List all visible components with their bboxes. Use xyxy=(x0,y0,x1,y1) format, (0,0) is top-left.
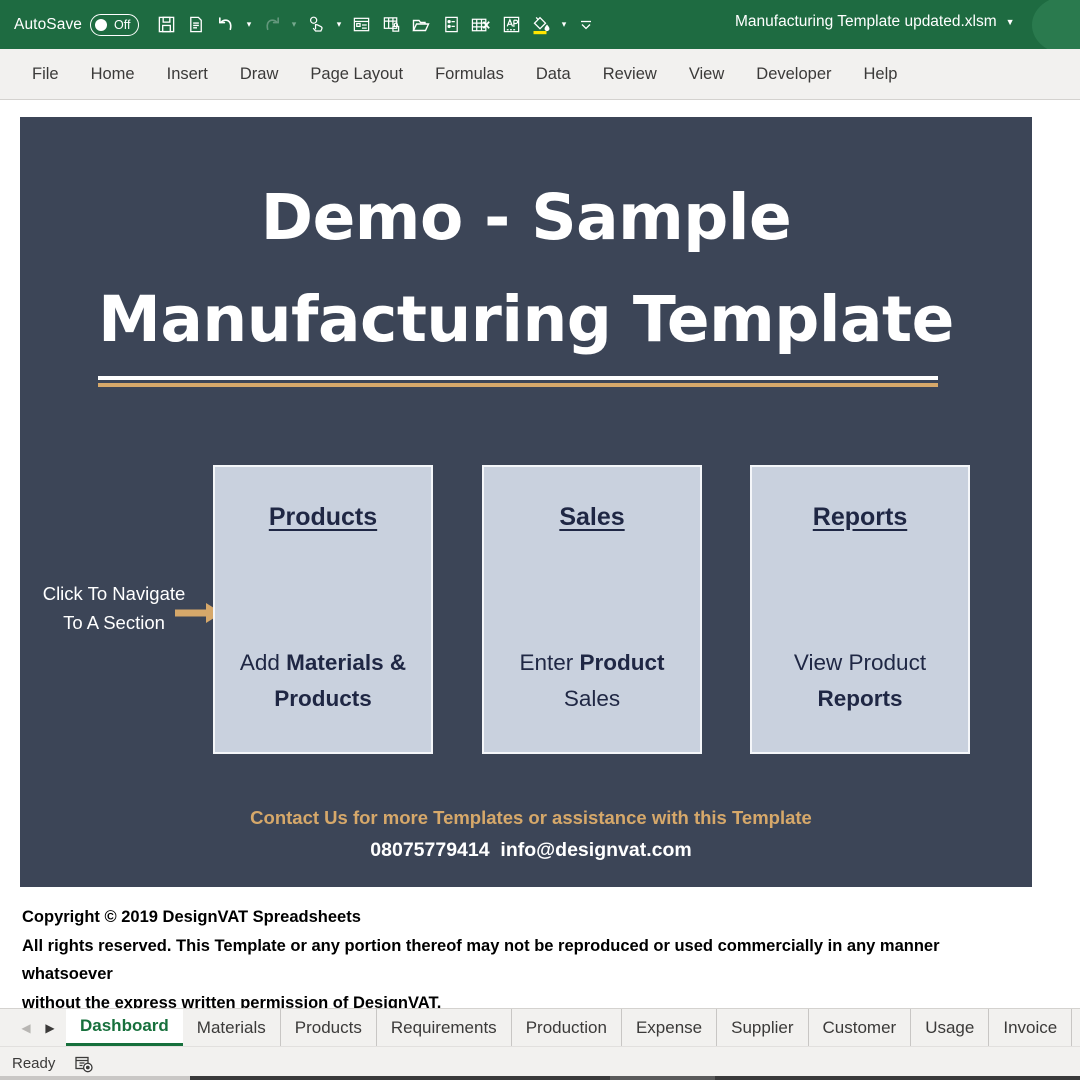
fill-color-icon[interactable] xyxy=(526,8,556,42)
sheet-tab-dashboard[interactable]: Dashboard xyxy=(66,1009,183,1046)
properties-icon[interactable] xyxy=(436,8,466,42)
save-icon[interactable] xyxy=(151,8,181,42)
fill-color-chevron-down-icon[interactable]: ▾ xyxy=(556,8,571,42)
tab-insert[interactable]: Insert xyxy=(151,59,224,90)
ribbon-tab-bar: File Home Insert Draw Page Layout Formul… xyxy=(0,49,1080,100)
customize-qat-icon[interactable] xyxy=(571,8,601,42)
nav-card-sales-desc-bold: Product xyxy=(580,650,665,675)
tab-file[interactable]: File xyxy=(16,59,75,90)
page-title: Demo - Sample Manufacturing Template xyxy=(20,167,1032,371)
nav-card-products-title[interactable]: Products xyxy=(215,503,431,532)
copyright-line-2: All rights reserved. This Template or an… xyxy=(22,932,1032,989)
divider-gold xyxy=(98,383,938,387)
tab-review[interactable]: Review xyxy=(587,59,673,90)
tab-help[interactable]: Help xyxy=(848,59,914,90)
divider-white xyxy=(98,376,938,380)
sheet-tab-bar: ◀ ▶ Dashboard Materials Products Require… xyxy=(0,1008,1080,1046)
nav-card-products-desc-prefix: Add xyxy=(240,650,286,675)
contact-tagline: Contact Us for more Templates or assista… xyxy=(20,807,1032,829)
touch-mouse-mode-icon[interactable] xyxy=(301,8,331,42)
print-preview-icon[interactable] xyxy=(181,8,211,42)
sheet-tab-production[interactable]: Production xyxy=(512,1009,622,1046)
document-title: Manufacturing Template updated.xlsm xyxy=(735,13,997,31)
open-folder-icon[interactable] xyxy=(406,8,436,42)
autosave-state-label: Off xyxy=(114,18,130,32)
tab-developer[interactable]: Developer xyxy=(740,59,847,90)
copyright-line-3: without the express written permission o… xyxy=(22,989,1032,1008)
quick-access-toolbar: ▾ ▾ ▾ xyxy=(151,8,601,42)
scrollbar-segment-right[interactable] xyxy=(715,1076,1080,1080)
dashboard-panel: Demo - Sample Manufacturing Template Cli… xyxy=(20,117,1032,887)
title-bar-decoration xyxy=(1032,0,1080,49)
clear-formatting-icon[interactable] xyxy=(466,8,496,42)
sheet-tab-materials[interactable]: Materials xyxy=(183,1009,281,1046)
nav-card-products[interactable]: Products Add Materials & Products xyxy=(213,465,433,754)
scrollbar-segment-mid-2[interactable] xyxy=(610,1076,715,1080)
document-title-chevron-down-icon[interactable]: ▼ xyxy=(1006,17,1015,27)
sheet-tab-next-arrow-icon[interactable]: ▶ xyxy=(38,1010,62,1046)
nav-card-sales-title[interactable]: Sales xyxy=(484,503,700,532)
copyright-line-1: Copyright © 2019 DesignVAT Spreadsheets xyxy=(22,903,1032,932)
status-state-label: Ready xyxy=(12,1055,55,1072)
scrollbar-segment-mid-1[interactable] xyxy=(190,1076,610,1080)
worksheet-area: Demo - Sample Manufacturing Template Cli… xyxy=(0,100,1080,1008)
nav-card-reports-title[interactable]: Reports xyxy=(752,503,968,532)
nav-card-reports-desc-bold: Reports xyxy=(817,686,902,711)
page-title-line-2: Manufacturing Template xyxy=(20,269,1032,371)
tab-view[interactable]: View xyxy=(673,59,740,90)
record-macro-icon[interactable] xyxy=(73,1053,95,1075)
nav-card-reports[interactable]: Reports View Product Reports xyxy=(750,465,970,754)
contact-phone[interactable]: 08075779414 xyxy=(370,839,489,861)
sheet-tab-navigation: ◀ ▶ xyxy=(0,1009,66,1046)
scrollbar-segment-left[interactable] xyxy=(0,1076,190,1080)
status-bar: Ready xyxy=(0,1046,1080,1080)
nav-card-sales-description: Enter Product Sales xyxy=(492,645,692,718)
sheet-tab-usage[interactable]: Usage xyxy=(911,1009,989,1046)
tab-draw[interactable]: Draw xyxy=(224,59,295,90)
undo-dropdown-chevron-down-icon[interactable]: ▾ xyxy=(241,8,256,42)
redo-icon xyxy=(256,8,286,42)
contact-details: 08075779414 info@designvat.com xyxy=(20,839,1032,862)
sheet-tab-supplier[interactable]: Supplier xyxy=(717,1009,808,1046)
sheet-tab-invoice[interactable]: Invoice xyxy=(989,1009,1072,1046)
nav-card-reports-description: View Product Reports xyxy=(760,645,960,718)
title-bar: AutoSave Off ▾ xyxy=(0,0,1080,49)
touch-mode-chevron-down-icon[interactable]: ▾ xyxy=(331,8,346,42)
nav-card-products-desc-bold: Materials & Products xyxy=(274,650,406,711)
autosave-toggle-knob xyxy=(95,19,107,31)
sheet-tab-prev-arrow-icon[interactable]: ◀ xyxy=(14,1010,38,1046)
nav-card-sales[interactable]: Sales Enter Product Sales xyxy=(482,465,702,754)
redo-dropdown-chevron-down-icon: ▾ xyxy=(286,8,301,42)
nav-card-sales-desc-suffix: Sales xyxy=(564,686,620,711)
tab-data[interactable]: Data xyxy=(520,59,587,90)
nav-card-reports-desc-prefix: View Product xyxy=(794,650,926,675)
sheet-tab-requirements[interactable]: Requirements xyxy=(377,1009,512,1046)
autosave-group: AutoSave Off xyxy=(14,14,139,36)
sheet-tab-products[interactable]: Products xyxy=(281,1009,377,1046)
sheet-tab-list: Dashboard Materials Products Requirement… xyxy=(66,1009,1072,1046)
page-title-line-1: Demo - Sample xyxy=(20,167,1032,269)
form-icon[interactable] xyxy=(346,8,376,42)
sheet-tab-customer[interactable]: Customer xyxy=(809,1009,912,1046)
nav-card-products-description: Add Materials & Products xyxy=(223,645,423,718)
autosave-toggle[interactable]: Off xyxy=(90,14,139,36)
contact-email[interactable]: info@designvat.com xyxy=(500,839,691,861)
tab-formulas[interactable]: Formulas xyxy=(419,59,520,90)
spelling-icon[interactable] xyxy=(496,8,526,42)
autosave-label: AutoSave xyxy=(14,16,82,34)
undo-icon[interactable] xyxy=(211,8,241,42)
document-title-group[interactable]: Manufacturing Template updated.xlsm ▼ xyxy=(735,13,1015,31)
sheet-tab-expense[interactable]: Expense xyxy=(622,1009,717,1046)
tab-home[interactable]: Home xyxy=(75,59,151,90)
tab-page-layout[interactable]: Page Layout xyxy=(294,59,419,90)
nav-card-sales-desc-prefix: Enter xyxy=(519,650,579,675)
protect-sheet-icon[interactable] xyxy=(376,8,406,42)
copyright-notice: Copyright © 2019 DesignVAT Spreadsheets … xyxy=(22,903,1032,1008)
